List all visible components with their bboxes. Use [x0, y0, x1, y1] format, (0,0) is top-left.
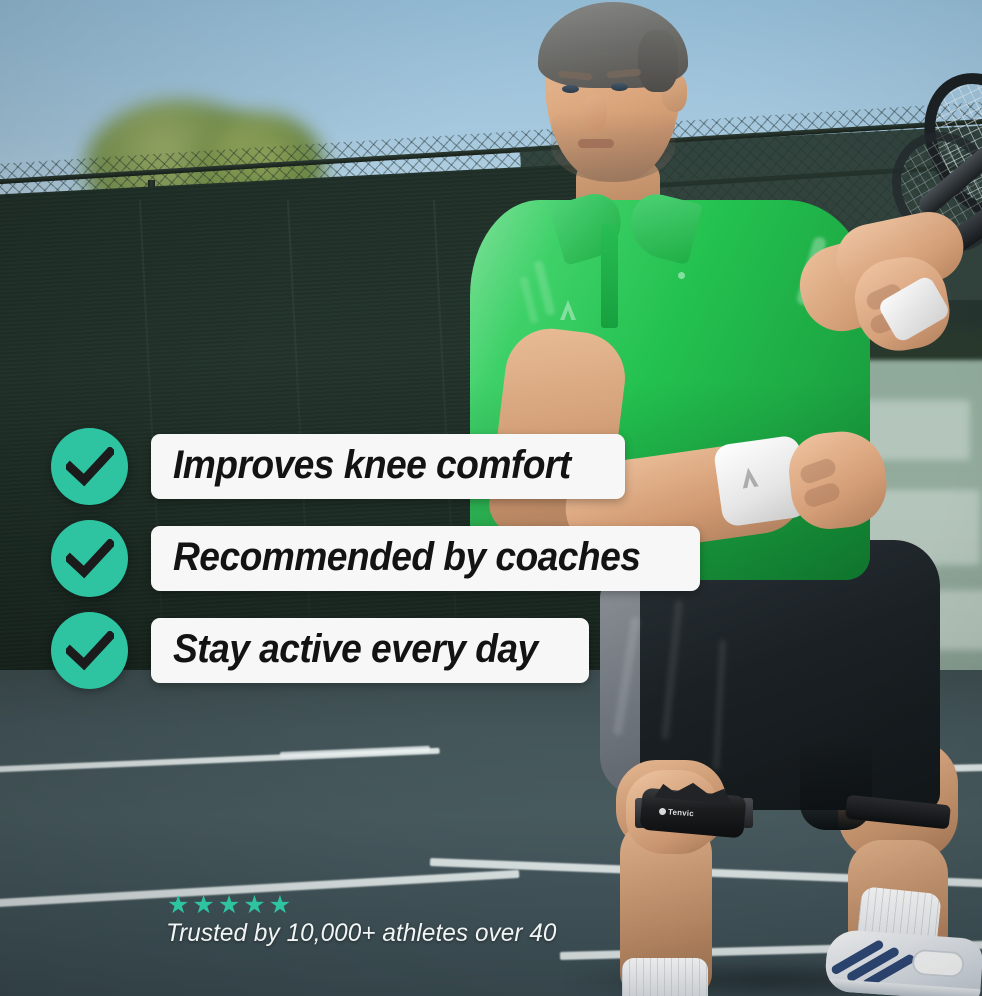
star-icon: ★ — [167, 893, 189, 918]
benefit-pill: Recommended by coaches — [151, 526, 700, 591]
star-icon: ★ — [243, 893, 265, 918]
benefit-item-2: Recommended by coaches — [51, 520, 700, 597]
star-icon: ★ — [192, 893, 214, 918]
trust-caption: Trusted by 10,000+ athletes over 40 — [166, 920, 557, 946]
star-icon: ★ — [269, 893, 291, 918]
star-rating: ★ ★ ★ ★ ★ — [167, 893, 569, 918]
benefit-item-1: Improves knee comfort — [51, 428, 625, 505]
promo-image: Tenvic — [0, 0, 982, 996]
check-icon — [51, 612, 128, 689]
social-proof: ★ ★ ★ ★ ★ Trusted by 10,000+ athletes ov… — [166, 893, 569, 946]
check-icon — [51, 520, 128, 597]
benefit-pill: Improves knee comfort — [151, 434, 625, 499]
benefit-item-3: Stay active every day — [51, 612, 589, 689]
benefit-pill: Stay active every day — [151, 618, 589, 683]
marketing-overlay: Improves knee comfort Recommended by coa… — [0, 0, 982, 996]
star-icon: ★ — [218, 893, 240, 918]
benefit-label: Improves knee comfort — [173, 445, 571, 485]
benefit-label: Recommended by coaches — [173, 537, 640, 577]
check-icon — [51, 428, 128, 505]
benefit-label: Stay active every day — [173, 629, 538, 669]
